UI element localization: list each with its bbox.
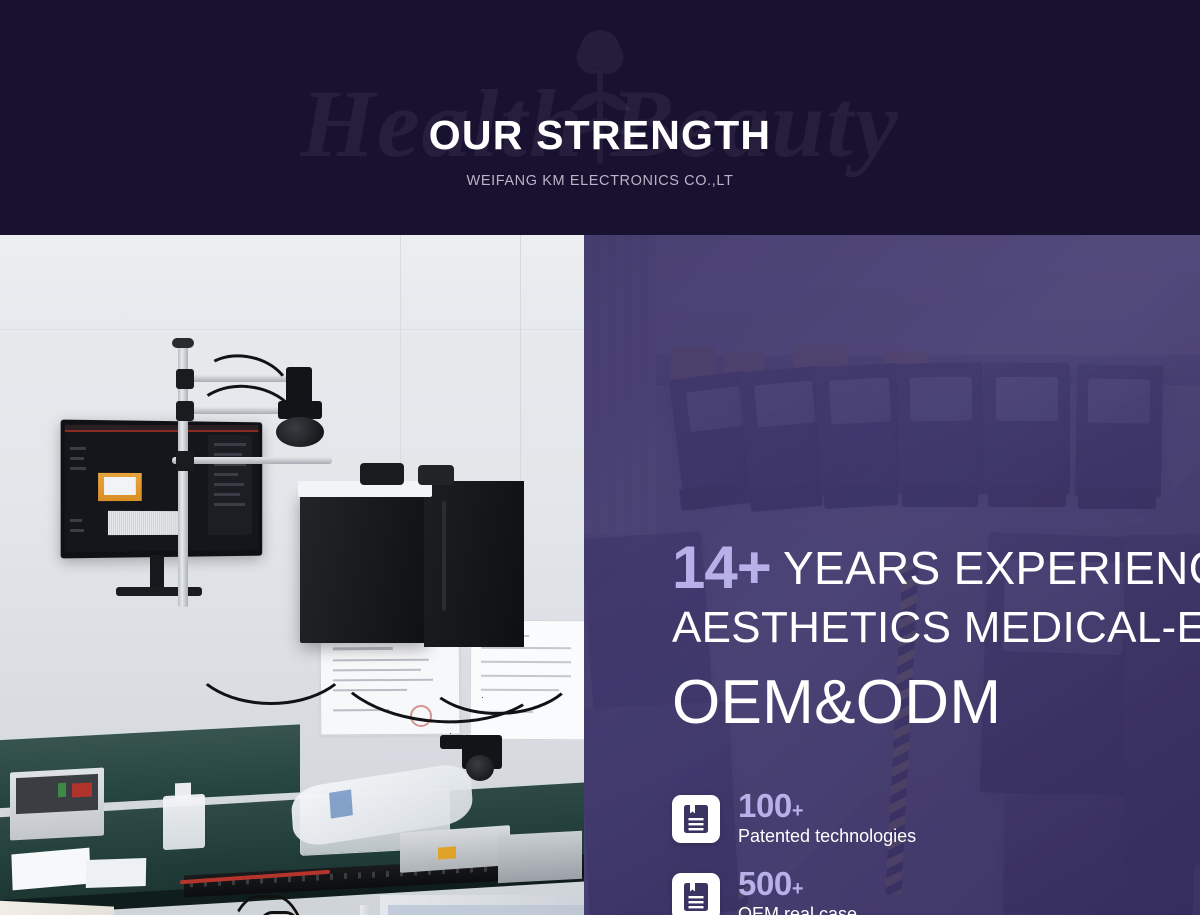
strength-banner: Health Beauty OUR STRENGTH WEIFANG KM EL… bbox=[0, 0, 1200, 915]
lab-photo bbox=[0, 235, 584, 915]
list-item: 500+ OEM real case bbox=[672, 858, 984, 915]
headline-line2: AESTHETICS MEDICAL-EQU bbox=[672, 606, 1200, 650]
page-title: OUR STRENGTH bbox=[0, 115, 1200, 156]
banner-body: 14+ YEARS EXPERIENCE AESTHETICS MEDICAL-… bbox=[0, 235, 1200, 915]
stat-label: Patented technologies bbox=[738, 825, 916, 848]
years-plus: + bbox=[737, 534, 771, 601]
banner-header: Health Beauty OUR STRENGTH WEIFANG KM EL… bbox=[0, 0, 1200, 235]
years-number: 14 bbox=[672, 534, 737, 601]
headline-years: 14+ YEARS EXPERIENCE bbox=[672, 538, 1200, 598]
stats-list: 100+ Patented technologies bbox=[672, 780, 984, 915]
years-suffix: YEARS EXPERIENCE bbox=[771, 542, 1200, 594]
document-bookmark-icon bbox=[672, 795, 720, 843]
list-item: 100+ Patented technologies bbox=[672, 780, 984, 858]
stat-number: 500+ bbox=[738, 867, 857, 902]
headline-line3: OEM&ODM bbox=[672, 672, 1001, 734]
document-bookmark-icon bbox=[672, 873, 720, 915]
company-name: WEIFANG KM ELECTRONICS CO.,LT bbox=[0, 173, 1200, 189]
stat-label: OEM real case bbox=[738, 903, 857, 915]
strength-panel: 14+ YEARS EXPERIENCE AESTHETICS MEDICAL-… bbox=[584, 235, 1200, 915]
stat-number: 100+ bbox=[738, 789, 916, 824]
solvent-bottle bbox=[163, 794, 205, 850]
